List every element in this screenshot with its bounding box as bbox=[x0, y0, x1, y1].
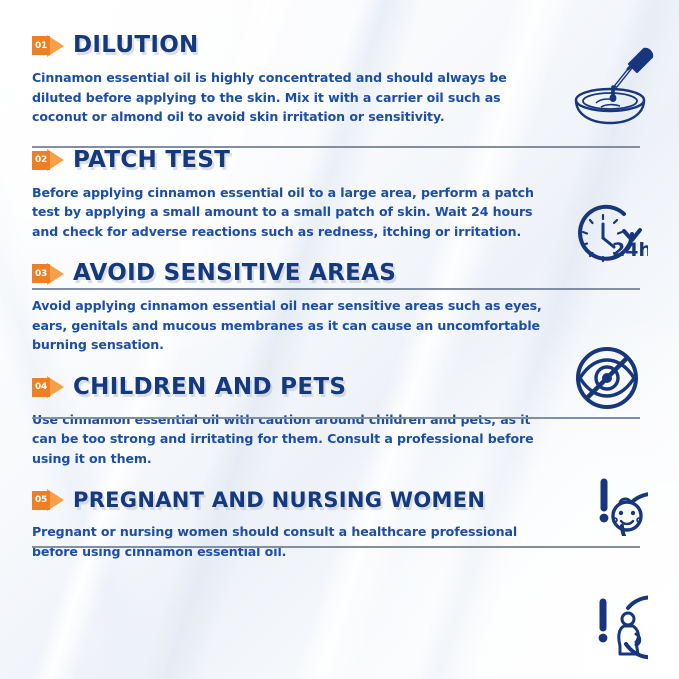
section-body: Avoid applying cinnamon essential oil ne… bbox=[32, 296, 552, 355]
section-body: Pregnant or nursing women should consult… bbox=[32, 522, 552, 561]
section-heading: AVOID SENSITIVE AREAS bbox=[73, 262, 396, 285]
step-badge: 05 bbox=[32, 489, 64, 511]
clock-24h-icon: 24h bbox=[570, 204, 648, 274]
section-header: 02 PATCH TEST bbox=[32, 149, 655, 172]
section-header: 01 DILUTION bbox=[32, 34, 655, 57]
section-divider bbox=[32, 546, 640, 548]
step-number: 01 bbox=[32, 36, 50, 55]
section-divider bbox=[32, 417, 640, 419]
section-heading: PREGNANT AND NURSING WOMEN bbox=[73, 490, 485, 511]
step-badge: 01 bbox=[32, 35, 64, 57]
step-number: 02 bbox=[32, 151, 50, 170]
step-number: 04 bbox=[32, 378, 50, 397]
warning-baby-icon bbox=[570, 464, 648, 536]
step-badge: 04 bbox=[32, 376, 64, 398]
section-body: Before applying cinnamon essential oil t… bbox=[32, 183, 552, 242]
section-divider bbox=[32, 146, 640, 148]
section-header: 04 CHILDREN AND PETS bbox=[32, 376, 655, 399]
section-heading: PATCH TEST bbox=[73, 149, 230, 172]
step-badge: 02 bbox=[32, 149, 64, 171]
section-heading: DILUTION bbox=[73, 34, 199, 57]
section-header: 03 AVOID SENSITIVE AREAS bbox=[32, 262, 655, 285]
section-heading: CHILDREN AND PETS bbox=[73, 376, 346, 399]
clock-label: 24h bbox=[612, 239, 648, 261]
section-header: 05 PREGNANT AND NURSING WOMEN bbox=[32, 489, 655, 511]
step-badge: 03 bbox=[32, 263, 64, 285]
section-body: Cinnamon essential oil is highly concent… bbox=[32, 68, 552, 127]
dropper-bowl-icon bbox=[566, 38, 658, 130]
warning-pregnant-icon bbox=[570, 588, 648, 660]
no-eye-icon bbox=[572, 343, 642, 413]
step-number: 03 bbox=[32, 264, 50, 283]
section-divider bbox=[32, 288, 640, 290]
step-number: 05 bbox=[32, 491, 50, 510]
infographic-page: 01 DILUTION Cinnamon essential oil is hi… bbox=[0, 0, 679, 679]
